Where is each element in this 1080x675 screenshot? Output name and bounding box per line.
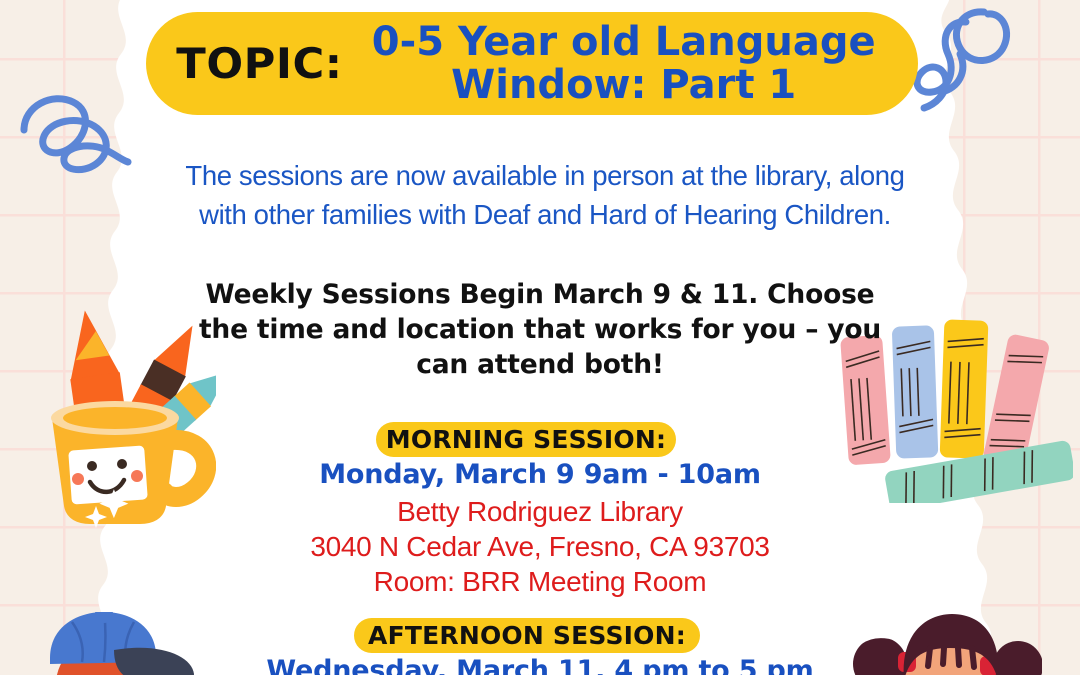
- morning-location-address: 3040 N Cedar Ave, Fresno, CA 93703: [0, 529, 1080, 564]
- topic-banner: TOPIC: 0-5 Year old Language Window: Par…: [146, 12, 918, 115]
- topic-title-line-2: Window: Part 1: [337, 64, 910, 107]
- weekly-line-1: Weekly Sessions Begin March 9 & 11. Choo…: [180, 278, 900, 313]
- morning-session-badge: MORNING SESSION:: [376, 422, 676, 457]
- morning-session-location: Betty Rodriguez Library 3040 N Cedar Ave…: [0, 494, 1080, 599]
- topic-title: 0-5 Year old Language Window: Part 1: [337, 21, 918, 107]
- intro-line-2: with other families with Deaf and Hard o…: [150, 195, 940, 234]
- morning-location-room: Room: BRR Meeting Room: [0, 564, 1080, 599]
- topic-label: TOPIC:: [166, 39, 343, 88]
- intro-line-1: The sessions are now available in person…: [150, 156, 940, 195]
- poster-canvas: TOPIC: 0-5 Year old Language Window: Par…: [0, 0, 1080, 675]
- intro-paragraph: The sessions are now available in person…: [150, 156, 940, 234]
- afternoon-session-badge: AFTERNOON SESSION:: [354, 618, 700, 653]
- weekly-line-2: the time and location that works for you…: [180, 313, 900, 348]
- weekly-sessions-note: Weekly Sessions Begin March 9 & 11. Choo…: [180, 278, 900, 383]
- poster-content: TOPIC: 0-5 Year old Language Window: Par…: [0, 0, 1080, 675]
- morning-session-time: Monday, March 9 9am - 10am: [0, 459, 1080, 490]
- weekly-line-3: can attend both!: [180, 348, 900, 383]
- afternoon-session-time: Wednesday, March 11, 4 pm to 5 pm: [0, 655, 1080, 675]
- topic-title-line-1: 0-5 Year old Language: [337, 21, 910, 64]
- morning-location-name: Betty Rodriguez Library: [0, 494, 1080, 529]
